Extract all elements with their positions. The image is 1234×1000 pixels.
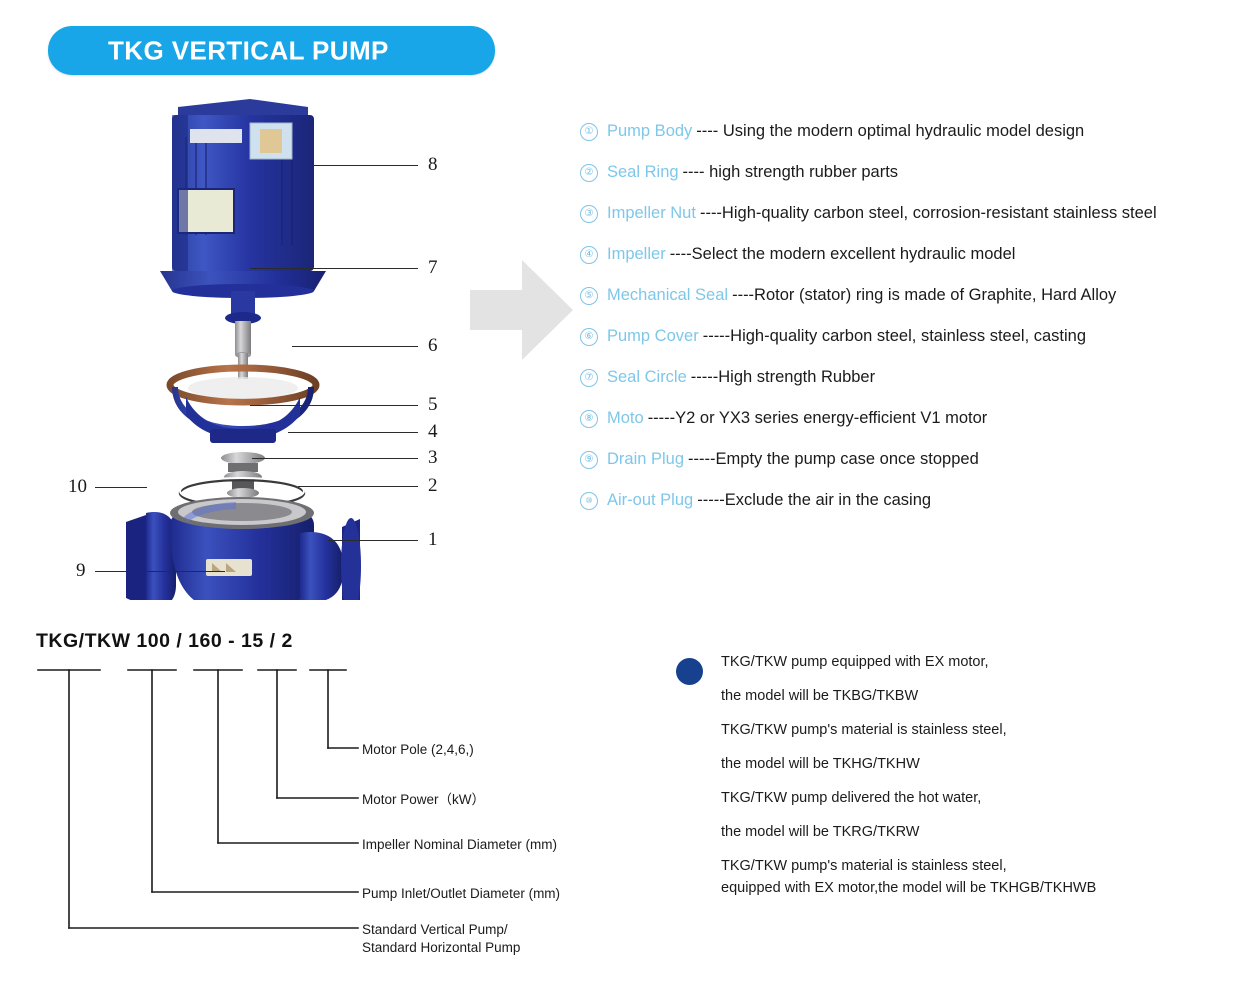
- legend-part-name-7: Seal Circle: [607, 368, 687, 387]
- legend-number-icon-8: ⑧: [580, 410, 598, 428]
- right-arrow-icon: [470, 250, 575, 370]
- legend-part-name-10: Air-out Plug: [607, 491, 693, 510]
- callout-number-7: 7: [428, 258, 438, 277]
- leader-line-6: [292, 346, 418, 347]
- note-line-5: TKG/TKW pump delivered the hot water,: [721, 788, 1191, 822]
- legend-item-mechanical-seal: ⑤ Mechanical Seal ----Rotor (stator) rin…: [580, 286, 1230, 327]
- page-title: TKG VERTICAL PUMP: [108, 35, 389, 66]
- leader-line-4: [288, 432, 418, 433]
- legend-description-4: ----Select the modern excellent hydrauli…: [670, 245, 1016, 264]
- legend-part-name-4: Impeller: [607, 245, 666, 264]
- callout-number-8: 8: [428, 155, 438, 174]
- legend-number-icon-5: ⑤: [580, 287, 598, 305]
- legend-description-2: ---- high strength rubber parts: [683, 163, 899, 182]
- legend-item-moto: ⑧ Moto -----Y2 or YX3 series energy-effi…: [580, 409, 1230, 450]
- page-title-banner: TKG VERTICAL PUMP: [48, 26, 495, 75]
- notes-lines: TKG/TKW pump equipped with EX motor, the…: [721, 652, 1191, 900]
- legend-item-drain-plug: ⑨ Drain Plug -----Empty the pump case on…: [580, 450, 1230, 491]
- leader-line-10: [95, 487, 147, 488]
- model-code-breakdown: TKG/TKW 100 / 160 - 15 / 2: [28, 630, 628, 960]
- legend-part-name-1: Pump Body: [607, 122, 692, 141]
- note-line-2: the model will be TKBG/TKBW: [721, 686, 1191, 720]
- note-line-6: the model will be TKRG/TKRW: [721, 822, 1191, 856]
- legend-item-impeller-nut: ③ Impeller Nut ----High-quality carbon s…: [580, 204, 1230, 245]
- pump-casing-illustration: [60, 85, 480, 600]
- callout-number-2: 2: [428, 476, 438, 495]
- legend-description-1: ---- Using the modern optimal hydraulic …: [696, 122, 1084, 141]
- callout-number-10: 10: [68, 477, 87, 496]
- legend-number-icon-7: ⑦: [580, 369, 598, 387]
- legend-description-5: ----Rotor (stator) ring is made of Graph…: [732, 286, 1116, 305]
- legend-number-icon-4: ④: [580, 246, 598, 264]
- legend-part-name-3: Impeller Nut: [607, 204, 696, 223]
- parts-legend-list: ① Pump Body ---- Using the modern optima…: [580, 122, 1230, 532]
- callout-number-3: 3: [428, 448, 438, 467]
- leader-line-2: [298, 486, 418, 487]
- exploded-pump-diagram: 8 7 6 5 4 3 2 1 10 9: [60, 85, 480, 600]
- legend-item-pump-cover: ⑥ Pump Cover -----High-quality carbon st…: [580, 327, 1230, 368]
- note-line-4: the model will be TKHG/TKHW: [721, 754, 1191, 788]
- callout-number-9: 9: [76, 561, 86, 580]
- leader-line-9: [95, 571, 225, 572]
- model-label-motor-pole: Motor Pole (2,4,6,): [362, 740, 474, 760]
- legend-description-3: ----High-quality carbon steel, corrosion…: [700, 204, 1157, 223]
- legend-description-7: -----High strength Rubber: [691, 368, 875, 387]
- legend-description-6: -----High-quality carbon steel, stainles…: [703, 327, 1086, 346]
- legend-description-8: -----Y2 or YX3 series energy-efficient V…: [648, 409, 988, 428]
- callout-number-4: 4: [428, 422, 438, 441]
- legend-number-icon-2: ②: [580, 164, 598, 182]
- legend-number-icon-6: ⑥: [580, 328, 598, 346]
- leader-line-1: [328, 540, 418, 541]
- note-line-3: TKG/TKW pump's material is stainless ste…: [721, 720, 1191, 754]
- note-line-8: equipped with EX motor,the model will be…: [721, 878, 1191, 900]
- legend-item-seal-circle: ⑦ Seal Circle -----High strength Rubber: [580, 368, 1230, 409]
- leader-line-7: [250, 268, 418, 269]
- note-line-7: TKG/TKW pump's material is stainless ste…: [721, 856, 1191, 878]
- callout-number-1: 1: [428, 530, 438, 549]
- legend-item-impeller: ④ Impeller ----Select the modern excelle…: [580, 245, 1230, 286]
- pump-body-part: [126, 497, 361, 600]
- model-label-inlet-outlet-diameter: Pump Inlet/Outlet Diameter (mm): [362, 884, 560, 904]
- model-label-motor-power: Motor Power（kW）: [362, 790, 485, 810]
- model-label-impeller-diameter: Impeller Nominal Diameter (mm): [362, 835, 557, 855]
- callout-number-6: 6: [428, 336, 438, 355]
- legend-number-icon-1: ①: [580, 123, 598, 141]
- legend-item-seal-ring: ② Seal Ring ---- high strength rubber pa…: [580, 163, 1230, 204]
- legend-part-name-5: Mechanical Seal: [607, 286, 728, 305]
- legend-number-icon-9: ⑨: [580, 451, 598, 469]
- model-breakdown-brackets: [28, 630, 628, 960]
- legend-description-10: -----Exclude the air in the casing: [697, 491, 931, 510]
- callout-number-5: 5: [428, 395, 438, 414]
- note-line-1: TKG/TKW pump equipped with EX motor,: [721, 652, 1191, 686]
- model-label-standard-horizontal-pump: Standard Horizontal Pump: [362, 938, 520, 958]
- bullet-point-icon: [676, 658, 703, 685]
- legend-description-9: -----Empty the pump case once stopped: [688, 450, 979, 469]
- legend-item-pump-body: ① Pump Body ---- Using the modern optima…: [580, 122, 1230, 163]
- legend-part-name-6: Pump Cover: [607, 327, 699, 346]
- leader-line-5: [250, 405, 418, 406]
- leader-line-3: [252, 458, 418, 459]
- model-label-standard-vertical-pump: Standard Vertical Pump/: [362, 920, 508, 940]
- legend-item-air-out-plug: ⑩ Air-out Plug -----Exclude the air in t…: [580, 491, 1230, 532]
- legend-part-name-9: Drain Plug: [607, 450, 684, 469]
- legend-number-icon-3: ③: [580, 205, 598, 223]
- legend-part-name-2: Seal Ring: [607, 163, 679, 182]
- legend-number-icon-10: ⑩: [580, 492, 598, 510]
- leader-line-8: [308, 165, 418, 166]
- legend-part-name-8: Moto: [607, 409, 644, 428]
